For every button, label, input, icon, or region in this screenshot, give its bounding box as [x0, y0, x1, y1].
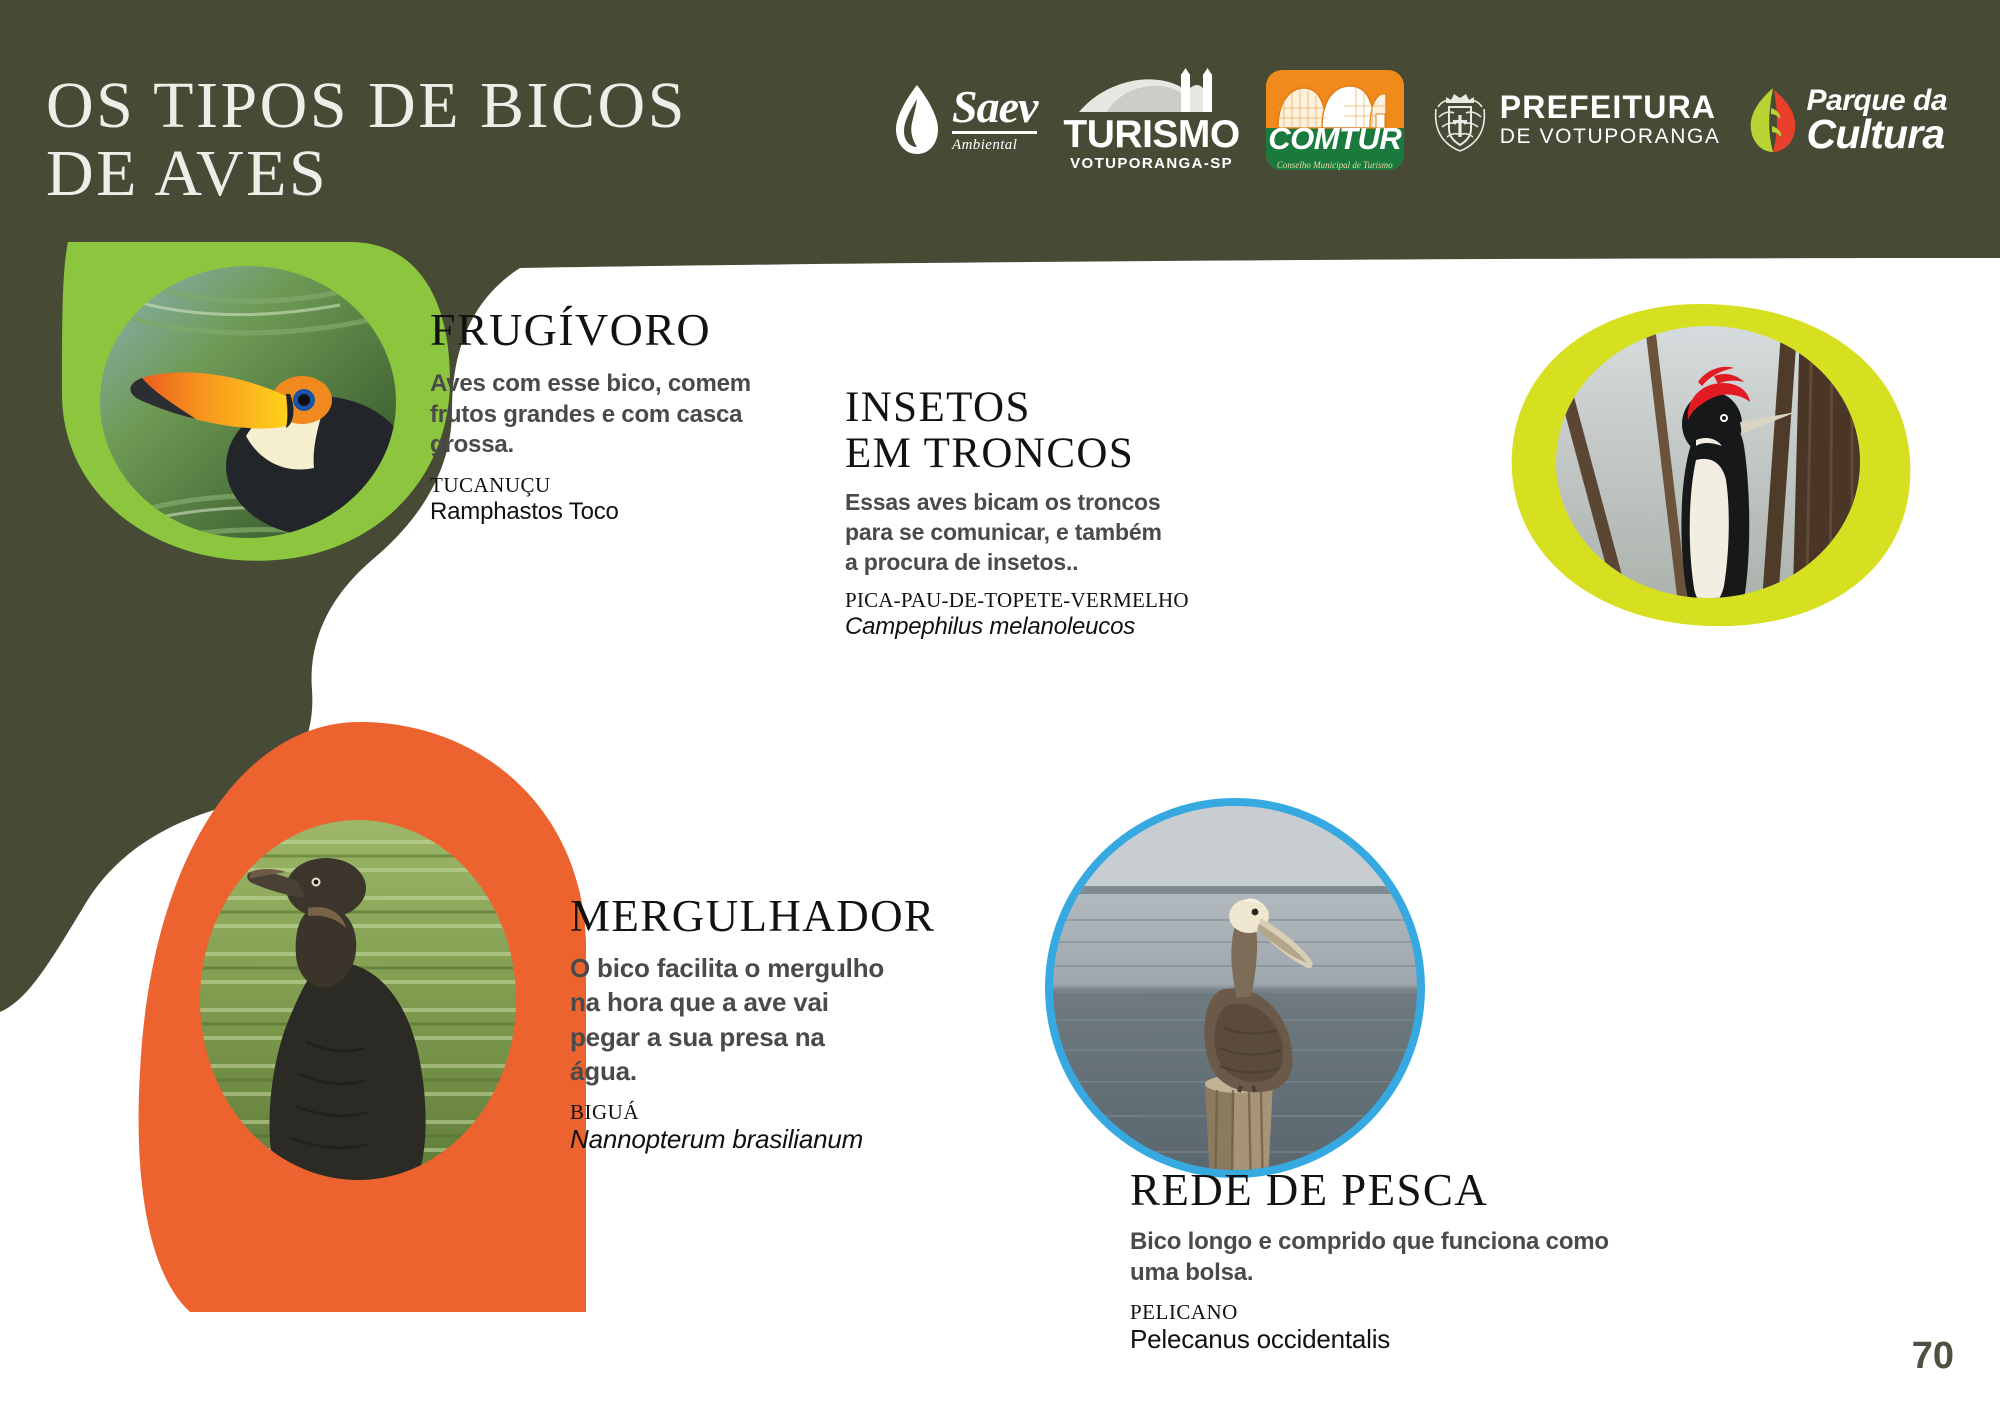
logo-comtur-word: COMTUR: [1266, 121, 1404, 157]
logo-saev-word: Saev: [952, 86, 1037, 133]
card-frugivoro-description: Aves com esse bico, comem frutos grandes…: [430, 369, 810, 461]
logo-parque-sub: Cultura: [1807, 115, 1948, 154]
card-mergulhador-heading: MERGULHADOR: [570, 894, 990, 939]
card-rede-de-pesca-heading: REDE DE PESCA: [1130, 1168, 1650, 1213]
card-mergulhador-image: [130, 712, 600, 1322]
card-frugivoro-scientific-name: Ramphastos Toco: [430, 498, 850, 526]
leaf-flame-icon: [1747, 86, 1799, 154]
logo-saev-sub: Ambiental: [952, 137, 1017, 154]
card-insetos-heading: INSETOS EM TRONCOS: [845, 385, 1205, 476]
logo-saev[interactable]: Saev Ambiental: [890, 66, 1037, 174]
card-insetos-heading-line1: INSETOS: [845, 385, 1205, 431]
card-insetos-common-name: PICA-PAU-DE-TOPETE-VERMELHO: [845, 588, 1205, 613]
card-mergulhador-scientific-name: Nannopterum brasilianum: [570, 1125, 990, 1155]
card-rede-de-pesca-description: Bico longo e comprido que funciona como …: [1130, 1227, 1610, 1288]
card-insetos-text: INSETOS EM TRONCOS Essas aves bicam os t…: [845, 385, 1205, 640]
card-rede-de-pesca-scientific-name: Pelecanus occidentalis: [1130, 1325, 1650, 1355]
coat-of-arms-icon: [1430, 85, 1490, 155]
card-frugivoro-heading: FRUGÍVORO: [430, 307, 850, 353]
card-frugivoro-common-name: TUCANUÇU: [430, 473, 850, 498]
church-pavilion-icon: [1077, 68, 1227, 116]
card-frugivoro-image: [50, 230, 470, 570]
card-frugivoro-text: FRUGÍVORO Aves com esse bico, comem frut…: [430, 307, 850, 526]
logo-comtur[interactable]: COMTUR Conselho Municipal de Turismo: [1266, 70, 1404, 170]
partner-logo-bar: Saev Ambiental TURISMO VOTUPORANGA-SP: [890, 66, 1947, 174]
card-mergulhador-common-name: BIGUÁ: [570, 1100, 990, 1125]
logo-parque-da-cultura[interactable]: Parque da Cultura: [1747, 66, 1948, 174]
card-rede-de-pesca-common-name: PELICANO: [1130, 1300, 1650, 1325]
water-drop-icon: [890, 83, 944, 157]
card-insetos-scientific-name: Campephilus melanoleucos: [845, 613, 1205, 641]
logo-turismo-word: TURISMO: [1063, 116, 1239, 154]
card-mergulhador-description: O bico facilita o mergulho na hora que a…: [570, 951, 890, 1088]
card-insetos-image: [1500, 300, 1920, 630]
card-insetos-description: Essas aves bicam os troncos para se comu…: [845, 488, 1175, 578]
card-rede-de-pesca-image: [1045, 790, 1435, 1210]
logo-prefeitura-sub: DE VOTUPORANGA: [1500, 125, 1721, 148]
page-number: 70: [1912, 1335, 1954, 1378]
card-rede-de-pesca-text: REDE DE PESCA Bico longo e comprido que …: [1130, 1168, 1650, 1355]
logo-turismo-sub: VOTUPORANGA-SP: [1070, 155, 1233, 172]
logo-comtur-sub: Conselho Municipal de Turismo: [1266, 160, 1404, 170]
card-mergulhador-text: MERGULHADOR O bico facilita o mergulho n…: [570, 894, 990, 1155]
logo-prefeitura-word: PREFEITURA: [1500, 91, 1721, 123]
card-insetos-heading-line2: EM TRONCOS: [845, 431, 1205, 477]
logo-turismo[interactable]: TURISMO VOTUPORANGA-SP: [1063, 66, 1239, 174]
logo-prefeitura[interactable]: PREFEITURA DE VOTUPORANGA: [1430, 66, 1721, 174]
